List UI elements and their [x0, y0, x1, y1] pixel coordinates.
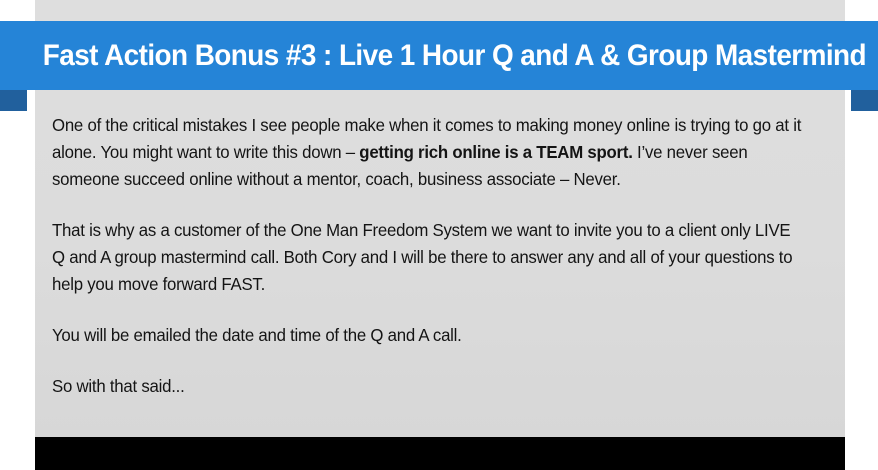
- paragraph-1: One of the critical mistakes I see peopl…: [52, 112, 806, 193]
- paragraph-4: So with that said...: [52, 373, 806, 400]
- bonus-page: Fast Action Bonus #3 : Live 1 Hour Q and…: [0, 0, 878, 470]
- banner: Fast Action Bonus #3 : Live 1 Hour Q and…: [0, 21, 878, 90]
- banner-fold-left: [0, 90, 27, 111]
- paragraph-3: You will be emailed the date and time of…: [52, 322, 806, 349]
- paragraph-2: That is why as a customer of the One Man…: [52, 217, 806, 298]
- banner-title: Fast Action Bonus #3 : Live 1 Hour Q and…: [0, 41, 866, 71]
- paragraph-1-emphasis: getting rich online is a TEAM sport.: [359, 142, 632, 162]
- bottom-bar: [35, 437, 845, 470]
- banner-fold-right: [851, 90, 878, 111]
- body-copy: One of the critical mistakes I see peopl…: [52, 112, 842, 400]
